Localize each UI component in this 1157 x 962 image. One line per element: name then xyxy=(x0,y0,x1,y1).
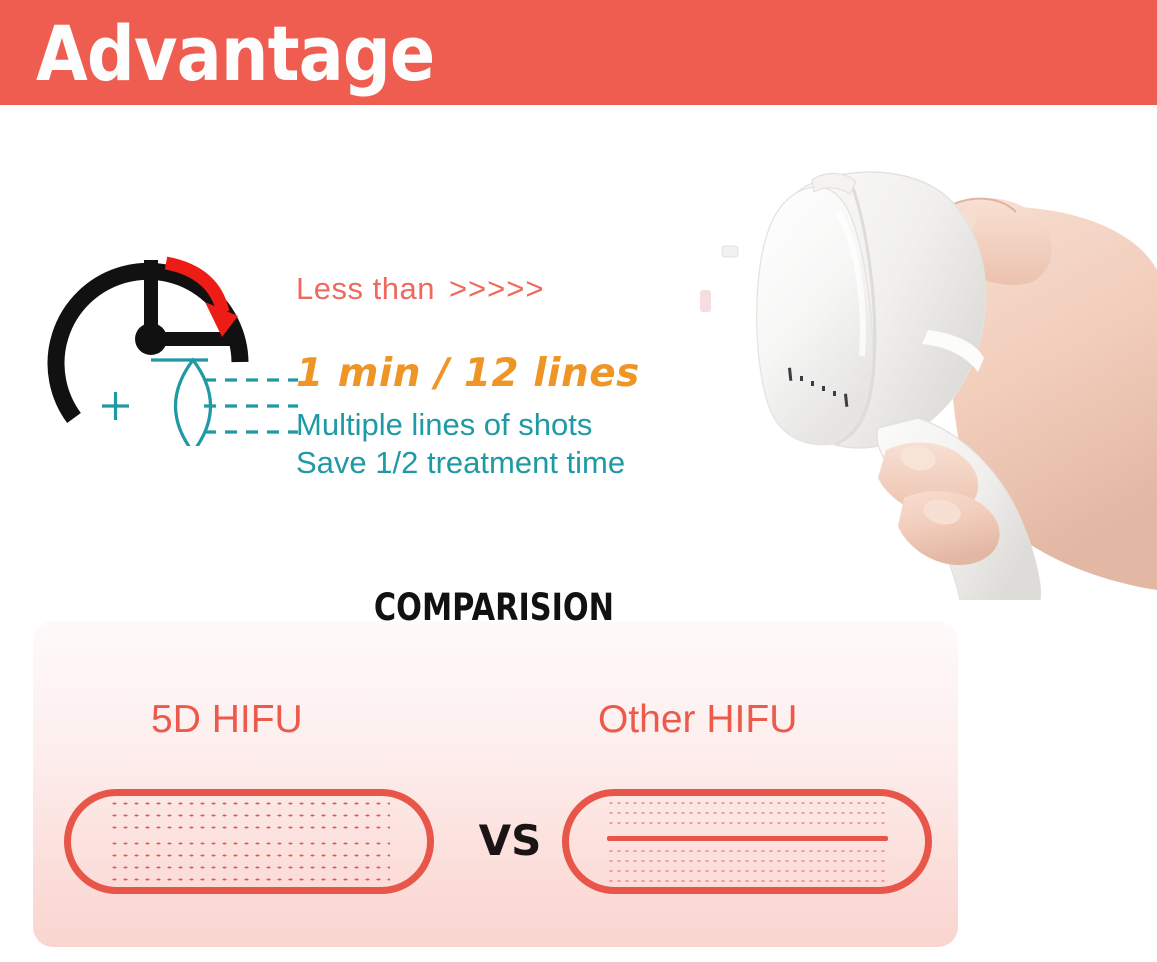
dot-row xyxy=(109,841,390,846)
hifu-handpiece-illustration xyxy=(660,150,1157,600)
headline-text: 1 min / 12 lines xyxy=(296,352,696,396)
dot-row xyxy=(109,853,390,858)
indicator-strip xyxy=(700,290,711,312)
lens-diagram-icon xyxy=(102,360,298,446)
dot-row xyxy=(109,877,390,882)
header-banner: Advantage xyxy=(0,0,1157,105)
dot-row xyxy=(607,821,888,825)
feature-text-block: Less than>>>>> 1 min / 12 lines Multiple… xyxy=(296,270,696,482)
dot-grid-sparse xyxy=(569,796,925,887)
vs-label: VS xyxy=(465,813,555,869)
device-photo xyxy=(660,150,1157,600)
dot-row xyxy=(607,859,888,863)
capsule-5d-hifu xyxy=(64,789,434,894)
dot-row xyxy=(109,801,390,806)
dot-row xyxy=(607,869,888,873)
less-than-line: Less than>>>>> xyxy=(296,270,696,308)
clock-center-dot xyxy=(135,323,167,355)
solid-line xyxy=(607,836,888,841)
side-tab xyxy=(722,246,738,257)
dot-row xyxy=(109,825,390,830)
dot-row xyxy=(109,865,390,870)
dot-row xyxy=(607,801,888,805)
dot-row xyxy=(607,849,888,853)
page-title: Advantage xyxy=(36,6,434,101)
speed-icon-group xyxy=(28,196,298,446)
column-label-other-hifu: Other HIFU xyxy=(598,697,797,743)
column-label-5d-hifu: 5D HIFU xyxy=(151,697,303,743)
comparison-panel: 5D HIFU Other HIFU VS xyxy=(33,621,958,947)
clock-icon xyxy=(28,196,298,446)
capsule-other-hifu xyxy=(562,789,932,894)
dot-grid-dense xyxy=(71,796,427,887)
dot-row xyxy=(607,811,888,815)
sub-line-1: Multiple lines of shots xyxy=(296,406,696,444)
dot-row xyxy=(607,879,888,883)
less-than-label: Less than xyxy=(296,271,435,306)
chevrons-icon: >>>>> xyxy=(449,271,545,306)
sub-line-2: Save 1/2 treatment time xyxy=(296,444,696,482)
dot-row xyxy=(109,813,390,818)
